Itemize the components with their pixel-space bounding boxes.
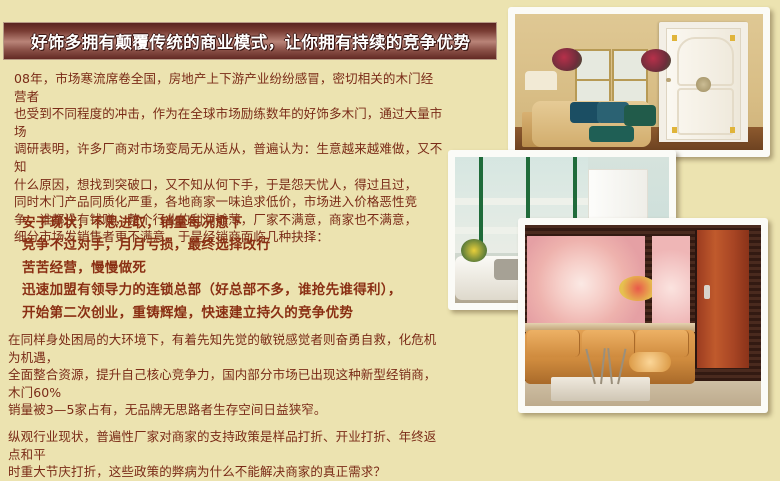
door-corner-ornament: [730, 127, 735, 133]
sofa-cushion: [527, 330, 580, 357]
decorative-branches: [584, 348, 636, 384]
door-handle: [704, 285, 710, 299]
closing-line: 时重大节庆打折，这些政策的弊病为什么不能解决商家的真正需求？: [8, 463, 448, 481]
closing-line: 全面整合资源，提升自己核心竞争力，国内部分市场已出现这种新型经销商，木门60%: [8, 366, 448, 401]
intro-line: 08年，市场寒流席卷全国，房地产上下游产业纷纷感冒，密切相关的木门经营者: [14, 70, 444, 105]
throw-blanket: [589, 126, 634, 142]
flower-arrangement: [552, 48, 582, 71]
list-item: 迅速加盟有领导力的连锁总部（好总部不多，谁抢先谁得利），: [22, 279, 442, 301]
intro-line: 也受到不同程度的冲击，作为在全球市场励练数年的好饰多木门，通过大量市场: [14, 105, 444, 140]
cushion: [624, 105, 656, 125]
door-corner-ornament: [672, 127, 677, 133]
door-panel-lower: [677, 88, 733, 134]
branch: [600, 348, 605, 384]
intro-line: 什么原因，想找到突破口，又不知从何下手，于是怨天忧人，得过且过，: [14, 176, 444, 194]
door-corner-ornament: [672, 35, 677, 41]
branch: [607, 348, 612, 384]
red-wood-door: [695, 230, 749, 368]
headline-banner: 好饰多拥有颠覆传统的商业模式，让你拥有持续的竞争优势: [3, 22, 497, 60]
closing-paragraphs: 在同样身处困局的大环境下，有着先知先觉的敏锐感觉者则奋勇自救，化危机为机遇， 全…: [8, 331, 448, 481]
headline-text: 好饰多拥有颠覆传统的商业模式，让你拥有持续的竞争优势: [4, 29, 470, 53]
closing-line: 销量被3—5家占有，无品牌无思路者生存空间日益狭窄。: [8, 401, 448, 419]
door-corner-ornament: [730, 35, 735, 41]
intro-line: 同时木门产品同质化严重，各地商家一味追求低价，市场进入价格恶性竞: [14, 193, 444, 211]
branch: [617, 349, 626, 385]
list-item: 安于现状，不思进取，销量每况愈下: [22, 212, 442, 234]
intro-line: 调研表明，许多厂商对市场变局无从适从，普遍认为：生意越来越难做，又不知: [14, 140, 444, 175]
white-door: [666, 28, 740, 141]
door-medallion: [696, 77, 710, 91]
glass-rail-horizontal: [455, 198, 588, 205]
list-item: 开始第二次创业，重铸辉煌，快速建立持久的竞争优势: [22, 302, 442, 324]
table-lamp: [525, 71, 557, 90]
closing-line: 在同样身处困局的大环境下，有着先知先觉的敏锐感觉者则奋勇自救，化危机为机遇，: [8, 331, 448, 366]
branch: [586, 349, 596, 384]
closing-line: 纵观行业现状，普遍性厂家对商家的支持政策是样品打折、开业打折、年终返点和平: [8, 428, 448, 463]
choices-list: 安于现状，不思进取，销量每况愈下 竞争不过对手，月月亏损，最终选择改行 苦苦经营…: [22, 212, 442, 324]
promo-page: 好饰多拥有颠覆传统的商业模式，让你拥有持续的竞争优势 08年，市场寒流席卷全国，…: [0, 0, 780, 430]
paragraph-spacer: [8, 419, 448, 428]
photo-image: [515, 14, 763, 150]
photo-living-room-white-door: [508, 7, 770, 157]
flower-vase: [461, 239, 487, 262]
list-item: 竞争不过对手，月月亏损，最终选择改行: [22, 234, 442, 256]
photo-leather-sofa-wood-door: [518, 218, 768, 413]
door-handle: [666, 78, 671, 81]
photo-image: [525, 225, 761, 406]
floral-artwork-small: [652, 236, 690, 323]
list-item: 苦苦经营，慢慢做死: [22, 257, 442, 279]
